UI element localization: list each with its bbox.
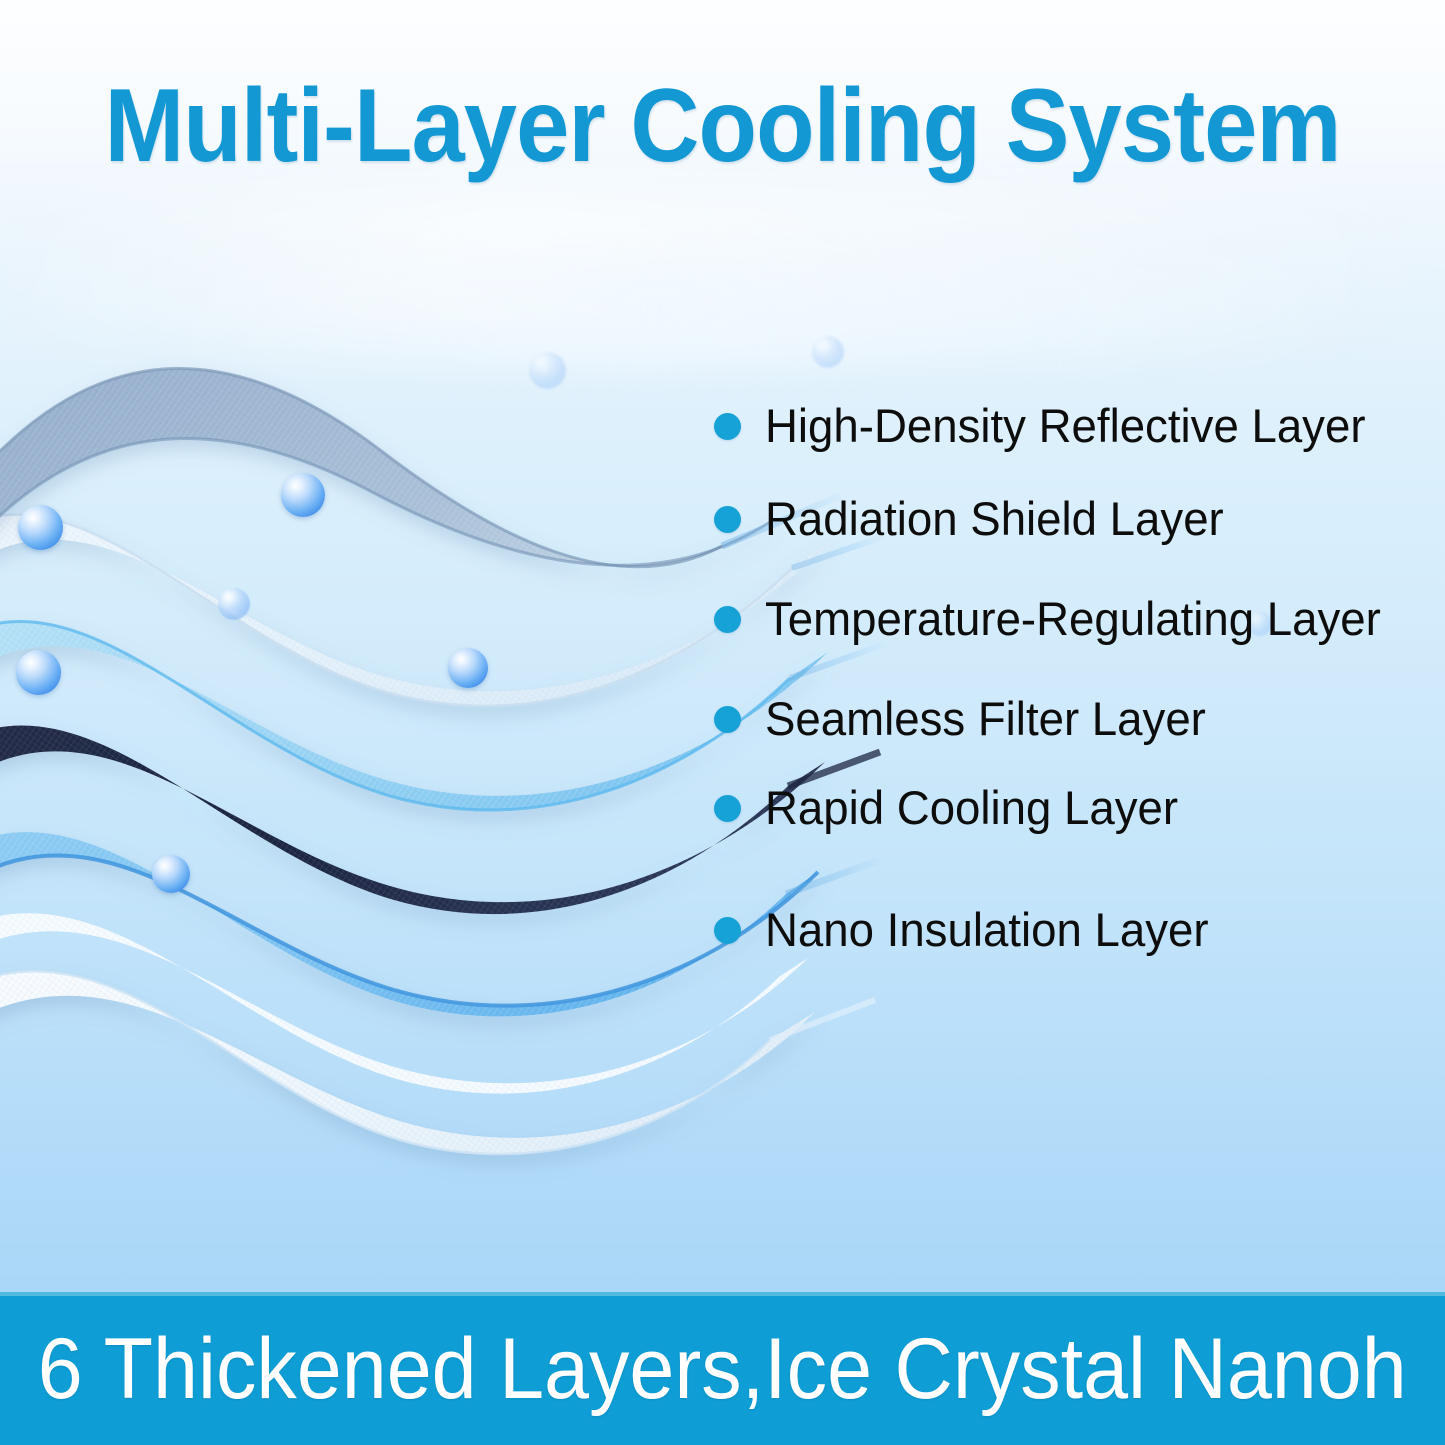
- water-droplet-bead: [16, 650, 61, 695]
- water-droplet-bead: [448, 648, 488, 688]
- bullet-dot-icon: [714, 413, 741, 440]
- water-droplet-bead: [218, 588, 250, 620]
- bullet-dot-icon: [714, 506, 741, 533]
- water-droplet-bead: [529, 352, 566, 389]
- layer-legend-label: Temperature-Regulating Layer: [765, 594, 1381, 644]
- bullet-dot-icon: [714, 917, 741, 944]
- layer-legend-label: Radiation Shield Layer: [765, 494, 1224, 544]
- page-title: Multi-Layer Cooling System: [58, 72, 1387, 180]
- bullet-dot-icon: [714, 706, 741, 733]
- layer-legend-item-6[interactable]: Nano Insulation Layer: [714, 902, 1222, 958]
- fabric-layer-radiation-shield: [0, 515, 832, 706]
- layer-legend-item-5[interactable]: Rapid Cooling Layer: [714, 780, 1191, 836]
- layer-legend-item-1[interactable]: High-Density Reflective Layer: [714, 398, 1384, 454]
- layer-legend-label: Nano Insulation Layer: [765, 905, 1209, 955]
- layer-legend-label: High-Density Reflective Layer: [765, 401, 1366, 451]
- bottom-banner: 6 Thickened Layers,Ice Crystal Nanoh: [0, 1292, 1445, 1445]
- fabric-layer-rapid-cooling: [0, 832, 818, 1016]
- fabric-layer-seamless-filter: [0, 726, 825, 915]
- water-droplet-bead: [18, 505, 63, 550]
- bullet-dot-icon: [714, 606, 741, 633]
- layer-legend-item-3[interactable]: Temperature-Regulating Layer: [714, 591, 1400, 647]
- fabric-layer-temperature-regulating: [0, 622, 828, 811]
- banner-headline: 6 Thickened Layers,Ice Crystal Nanoh: [38, 1323, 1407, 1415]
- product-infographic: Multi-Layer Cooling System: [0, 0, 1445, 1445]
- layer-legend-item-2[interactable]: Radiation Shield Layer: [714, 491, 1238, 547]
- banner-top-edge: [0, 1292, 1445, 1296]
- water-droplet-bead: [812, 336, 844, 368]
- layer-edge-ribbons: [722, 496, 885, 1040]
- layer-legend-label: Rapid Cooling Layer: [765, 783, 1178, 833]
- water-droplet-bead: [152, 855, 190, 893]
- layer-legend-label: Seamless Filter Layer: [765, 694, 1206, 744]
- water-droplet-bead: [281, 473, 325, 517]
- bullet-dot-icon: [714, 795, 741, 822]
- layer-legend-item-4[interactable]: Seamless Filter Layer: [714, 691, 1220, 747]
